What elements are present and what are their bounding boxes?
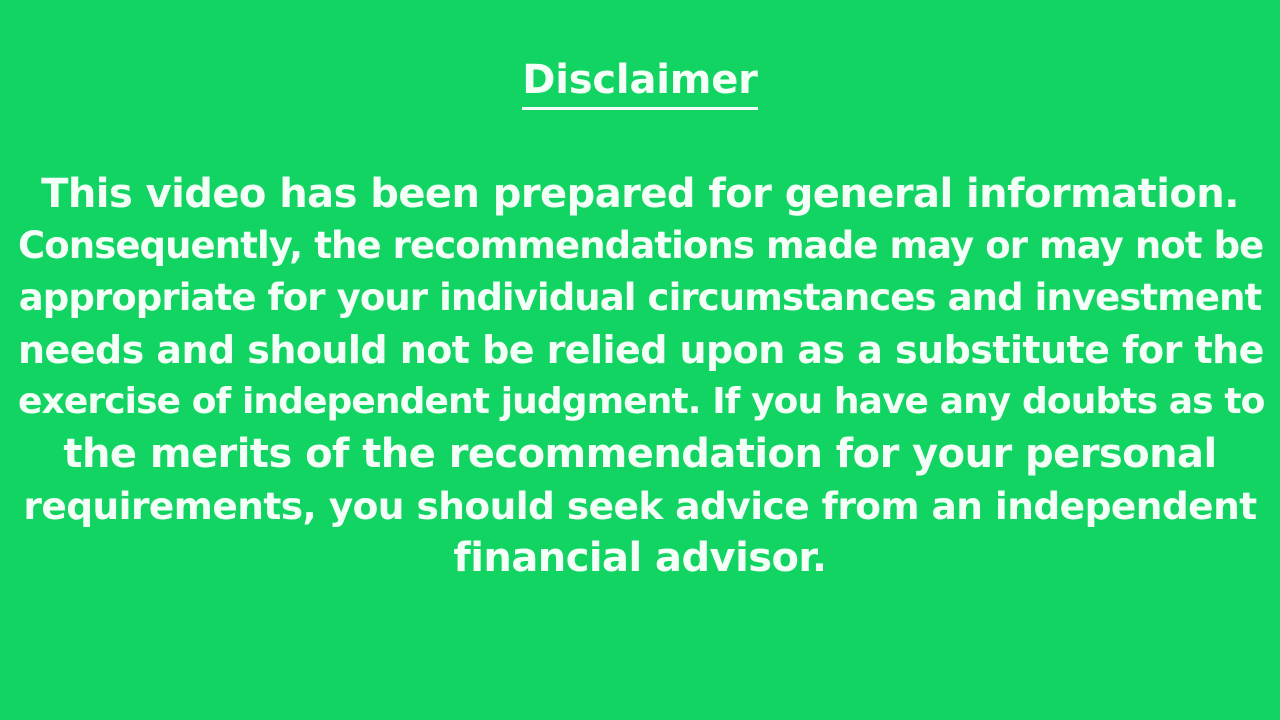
body-line: financial advisor.	[18, 532, 1262, 584]
body-line: Consequently, the recommendations made m…	[18, 220, 1262, 272]
body-line: This video has been prepared for general…	[18, 168, 1262, 220]
body-line: exercise of independent judgment. If you…	[18, 376, 1262, 428]
page-title: Disclaimer	[522, 60, 757, 110]
disclaimer-slide: Disclaimer This video has been prepared …	[0, 0, 1280, 720]
title-block: Disclaimer	[0, 60, 1280, 110]
disclaimer-body: This video has been prepared for general…	[18, 168, 1262, 584]
body-line: the merits of the recommendation for you…	[18, 428, 1262, 480]
body-line: needs and should not be relied upon as a…	[18, 324, 1262, 376]
body-line: appropriate for your individual circumst…	[18, 272, 1262, 324]
body-line: requirements, you should seek advice fro…	[18, 480, 1262, 532]
